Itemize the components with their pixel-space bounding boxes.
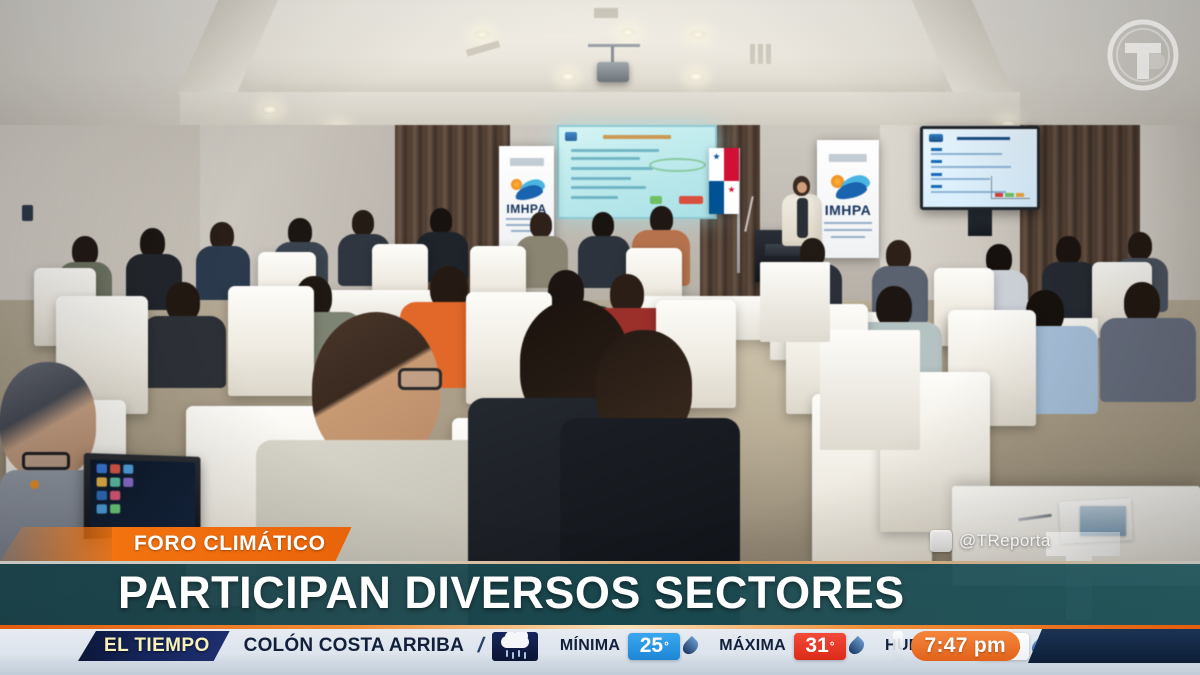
min-value: 25 xyxy=(640,634,663,658)
rain-cloud-icon xyxy=(492,632,538,661)
max-unit: ° xyxy=(830,639,835,653)
kicker-label: FORO CLIMÁTICO xyxy=(134,532,326,556)
clock-pill: 7:47 pm xyxy=(911,631,1020,661)
broadcast-frame: IMHPA IMHPA xyxy=(0,0,1200,675)
ticker-end-block xyxy=(1028,629,1200,663)
social-handle: @TReporta xyxy=(930,530,1051,552)
min-badge: 25° xyxy=(628,633,680,660)
clock-time: 7:47 pm xyxy=(925,634,1006,658)
max-label: MÁXIMA xyxy=(719,637,786,655)
ticker-section-badge: EL TIEMPO xyxy=(78,631,230,661)
ticker-sheen xyxy=(893,631,903,661)
min-unit: ° xyxy=(664,639,669,653)
droplet-icon xyxy=(680,635,701,656)
ticker-right-group: 7:47 pm xyxy=(893,630,1200,662)
social-handle-text: @TReporta xyxy=(959,531,1051,551)
droplet-icon xyxy=(846,635,867,656)
ticker-separator: / xyxy=(475,634,486,658)
channel-logo-bug xyxy=(1106,18,1180,92)
ticker-section-label: EL TIEMPO xyxy=(104,635,210,657)
headline-text: PARTICIPAN DIVERSOS SECTORES xyxy=(118,567,905,619)
social-square-icon xyxy=(930,530,952,552)
ticker-location: COLÓN COSTA ARRIBA xyxy=(244,635,464,657)
max-badge: 31° xyxy=(794,633,846,660)
max-value: 31 xyxy=(805,634,828,658)
weather-ticker: EL TIEMPO COLÓN COSTA ARRIBA / MÍNIMA 25… xyxy=(0,625,1200,675)
headline-bar: PARTICIPAN DIVERSOS SECTORES xyxy=(0,561,1200,625)
kicker-badge: FORO CLIMÁTICO xyxy=(112,527,352,561)
min-label: MÍNIMA xyxy=(560,637,620,655)
